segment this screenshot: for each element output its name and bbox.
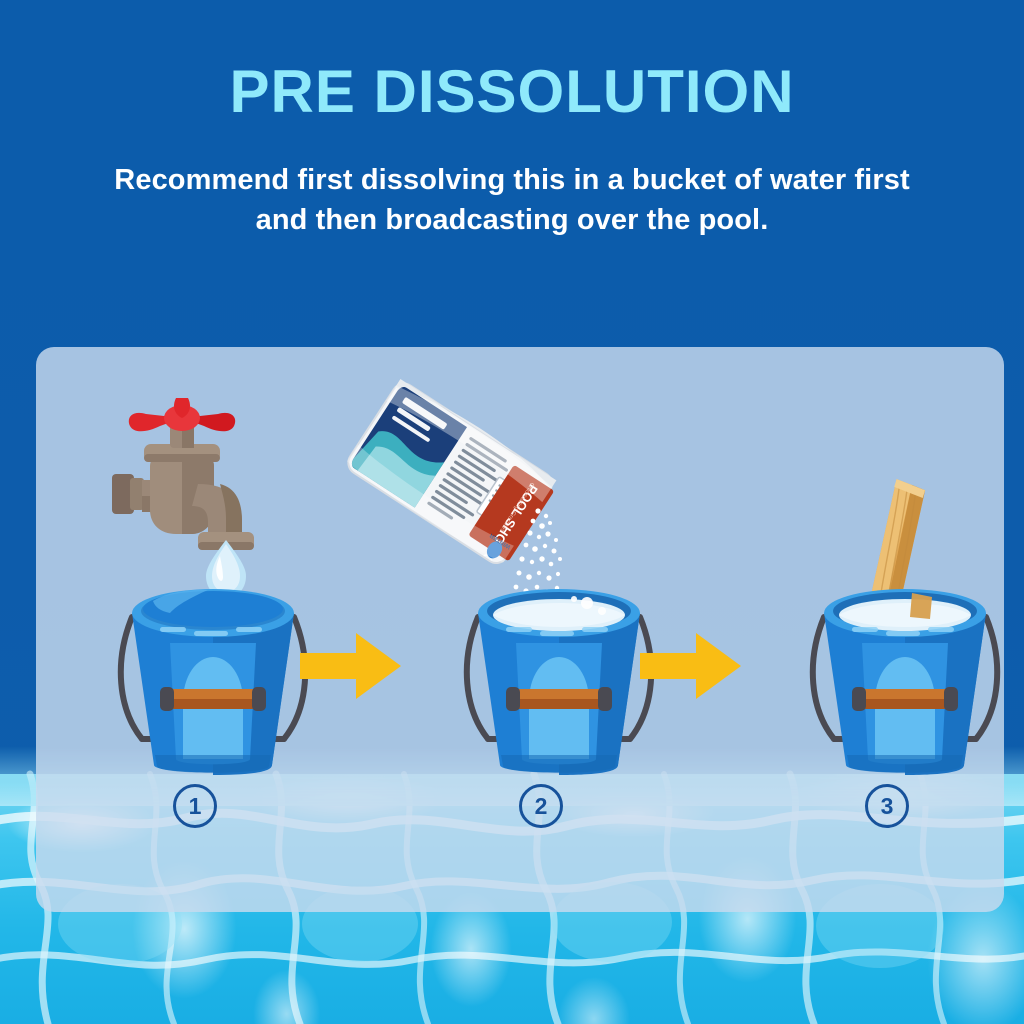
step-badge-2: 2: [519, 784, 563, 828]
step-badge-1: 1: [173, 784, 217, 828]
bucket-with-water-icon: [454, 569, 664, 784]
step-2-to-3-arrow: [638, 627, 743, 705]
step-1-to-2-arrow: [298, 627, 403, 705]
bucket-with-stick-icon: [800, 569, 1004, 784]
page-title: PRE DISSOLUTION: [0, 60, 1024, 123]
bucket-grip-icon: [852, 687, 958, 711]
bucket-grip-icon: [506, 687, 612, 711]
faucet-handle-icon: [129, 398, 235, 431]
step-badge-3: 3: [865, 784, 909, 828]
faucet-icon: [86, 392, 316, 582]
infographic-root: PRE DISSOLUTION Recommend first dissolvi…: [0, 0, 1024, 1024]
empty-bucket-icon: [108, 569, 318, 784]
page-subtitle: Recommend first dissolving this in a buc…: [112, 160, 912, 240]
bucket-grip-icon: [160, 687, 266, 711]
steps-panel: 1: [36, 347, 1004, 912]
